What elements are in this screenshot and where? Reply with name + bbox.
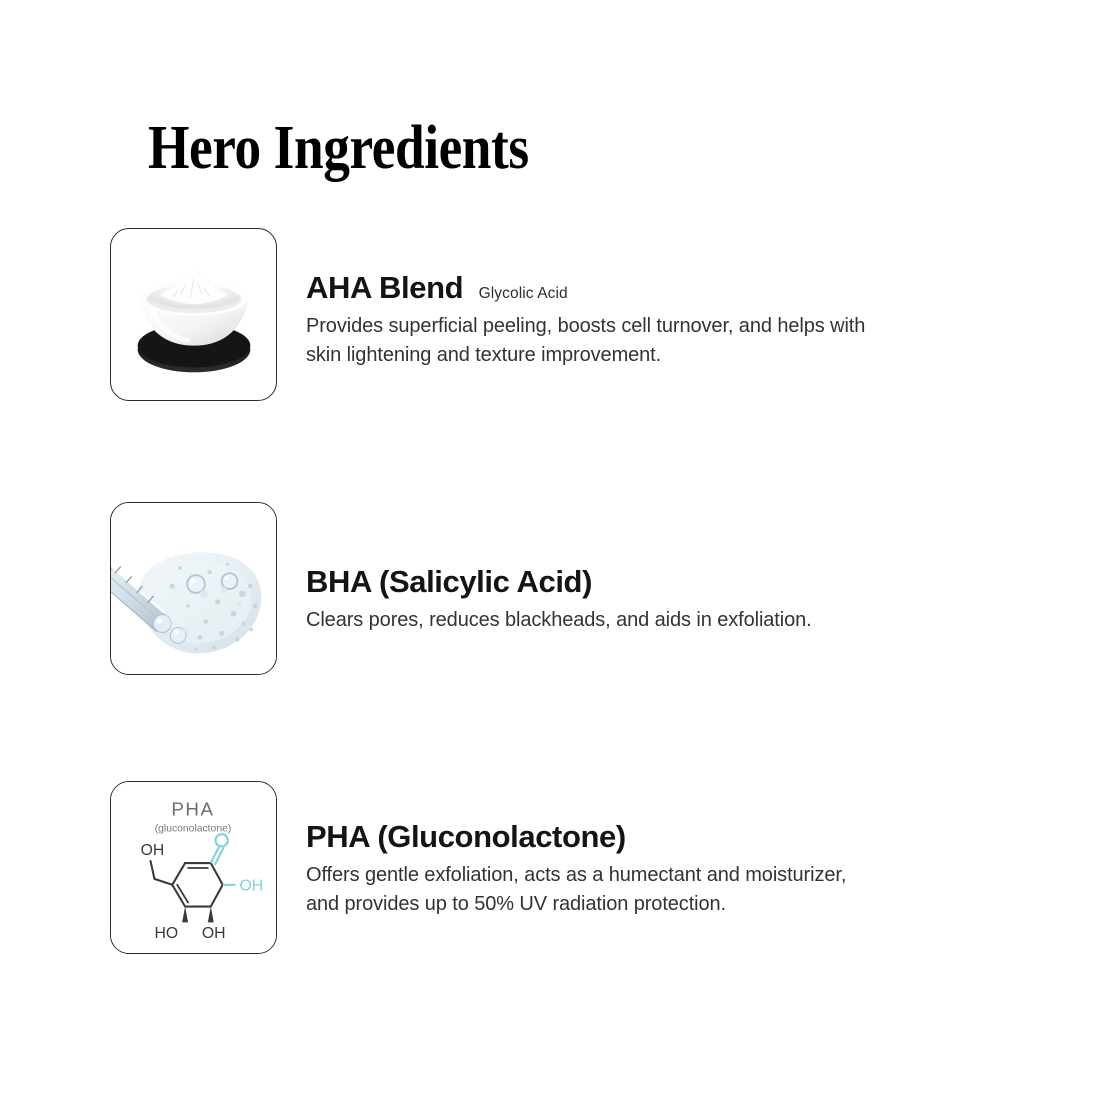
hero-ingredients-page: Hero Ingredients	[0, 0, 1100, 1100]
ingredient-thumbnail-pha: PHA (gluconolactone)	[110, 781, 277, 954]
molecule-group-oh-bottom: OH	[202, 925, 226, 942]
ingredient-text-aha: AHA Blend Glycolic Acid Provides superfi…	[306, 270, 1006, 371]
molecule-group-ho-bottom: HO	[154, 925, 178, 942]
molecule-sublabel: (gluconolactone)	[155, 823, 232, 834]
ingredient-thumbnail-bha	[110, 502, 277, 675]
ingredient-text-bha: BHA (Salicylic Acid) Clears pores, reduc…	[306, 564, 1006, 635]
ingredient-name: BHA (Salicylic Acid)	[306, 564, 592, 599]
ingredient-description: Offers gentle exfoliation, acts as a hum…	[306, 861, 866, 920]
molecule-diagram-icon: PHA (gluconolactone)	[111, 782, 276, 953]
ingredient-thumbnail-aha	[110, 228, 277, 401]
ingredient-description: Clears pores, reduces blackheads, and ai…	[306, 606, 866, 635]
ingredient-heading-aha: AHA Blend Glycolic Acid	[306, 270, 1006, 306]
ingredient-heading-bha: BHA (Salicylic Acid)	[306, 564, 1006, 600]
powder-bowl-icon	[111, 229, 276, 400]
molecule-group-oh-right: OH	[239, 878, 263, 895]
ingredient-heading-pha: PHA (Gluconolactone)	[306, 819, 1006, 855]
gel-dropper-icon	[111, 503, 276, 674]
page-title: Hero Ingredients	[148, 116, 529, 181]
ingredient-description: Provides superficial peeling, boosts cel…	[306, 312, 866, 371]
molecule-label: PHA	[171, 799, 214, 820]
ingredient-text-pha: PHA (Gluconolactone) Offers gentle exfol…	[306, 819, 1006, 920]
ingredient-name: AHA Blend	[306, 270, 463, 305]
molecule-group-oh-topleft: OH	[141, 842, 165, 859]
ingredient-subtitle: Glycolic Acid	[479, 285, 568, 302]
ingredient-name: PHA (Gluconolactone)	[306, 819, 626, 854]
